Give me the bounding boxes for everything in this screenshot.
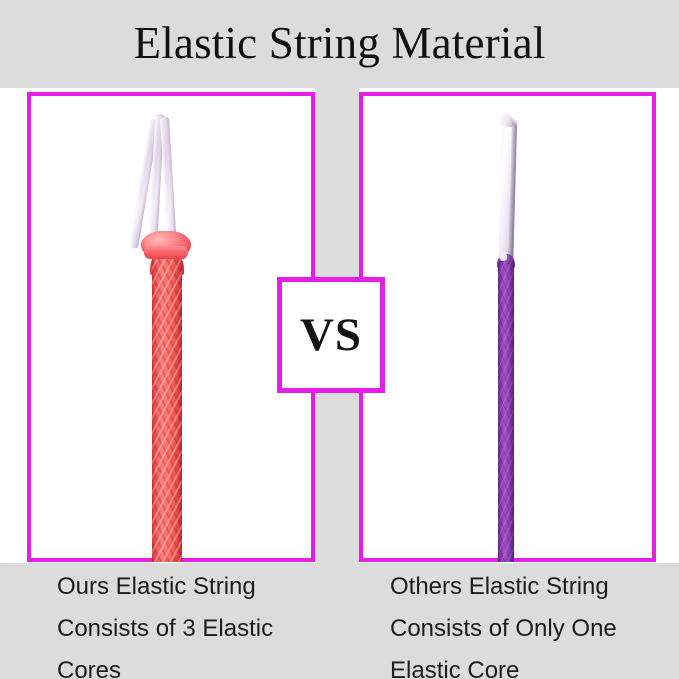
ours-caption-line-1: Ours Elastic String <box>57 566 273 608</box>
header-band: Elastic String Material <box>0 0 679 88</box>
ours-cord-band <box>144 246 188 259</box>
product-comparison-infographic: Elastic String Material VS Ours Elastic … <box>0 0 679 679</box>
vs-badge: VS <box>277 277 385 393</box>
vs-label: VS <box>300 312 362 359</box>
others-cord <box>498 261 514 562</box>
ours-braided-cord <box>152 252 182 562</box>
ours-caption-line-3: Cores <box>57 650 273 679</box>
others-caption: Others Elastic String Consists of Only O… <box>390 566 617 679</box>
others-caption-line-1: Others Elastic String <box>390 566 617 608</box>
page-title: Elastic String Material <box>0 14 679 72</box>
ours-caption: Ours Elastic String Consists of 3 Elasti… <box>57 566 273 679</box>
others-caption-line-2: Consists of Only One <box>390 608 617 650</box>
others-caption-line-3: Elastic Core <box>390 650 617 679</box>
ours-caption-line-2: Consists of 3 Elastic <box>57 608 273 650</box>
